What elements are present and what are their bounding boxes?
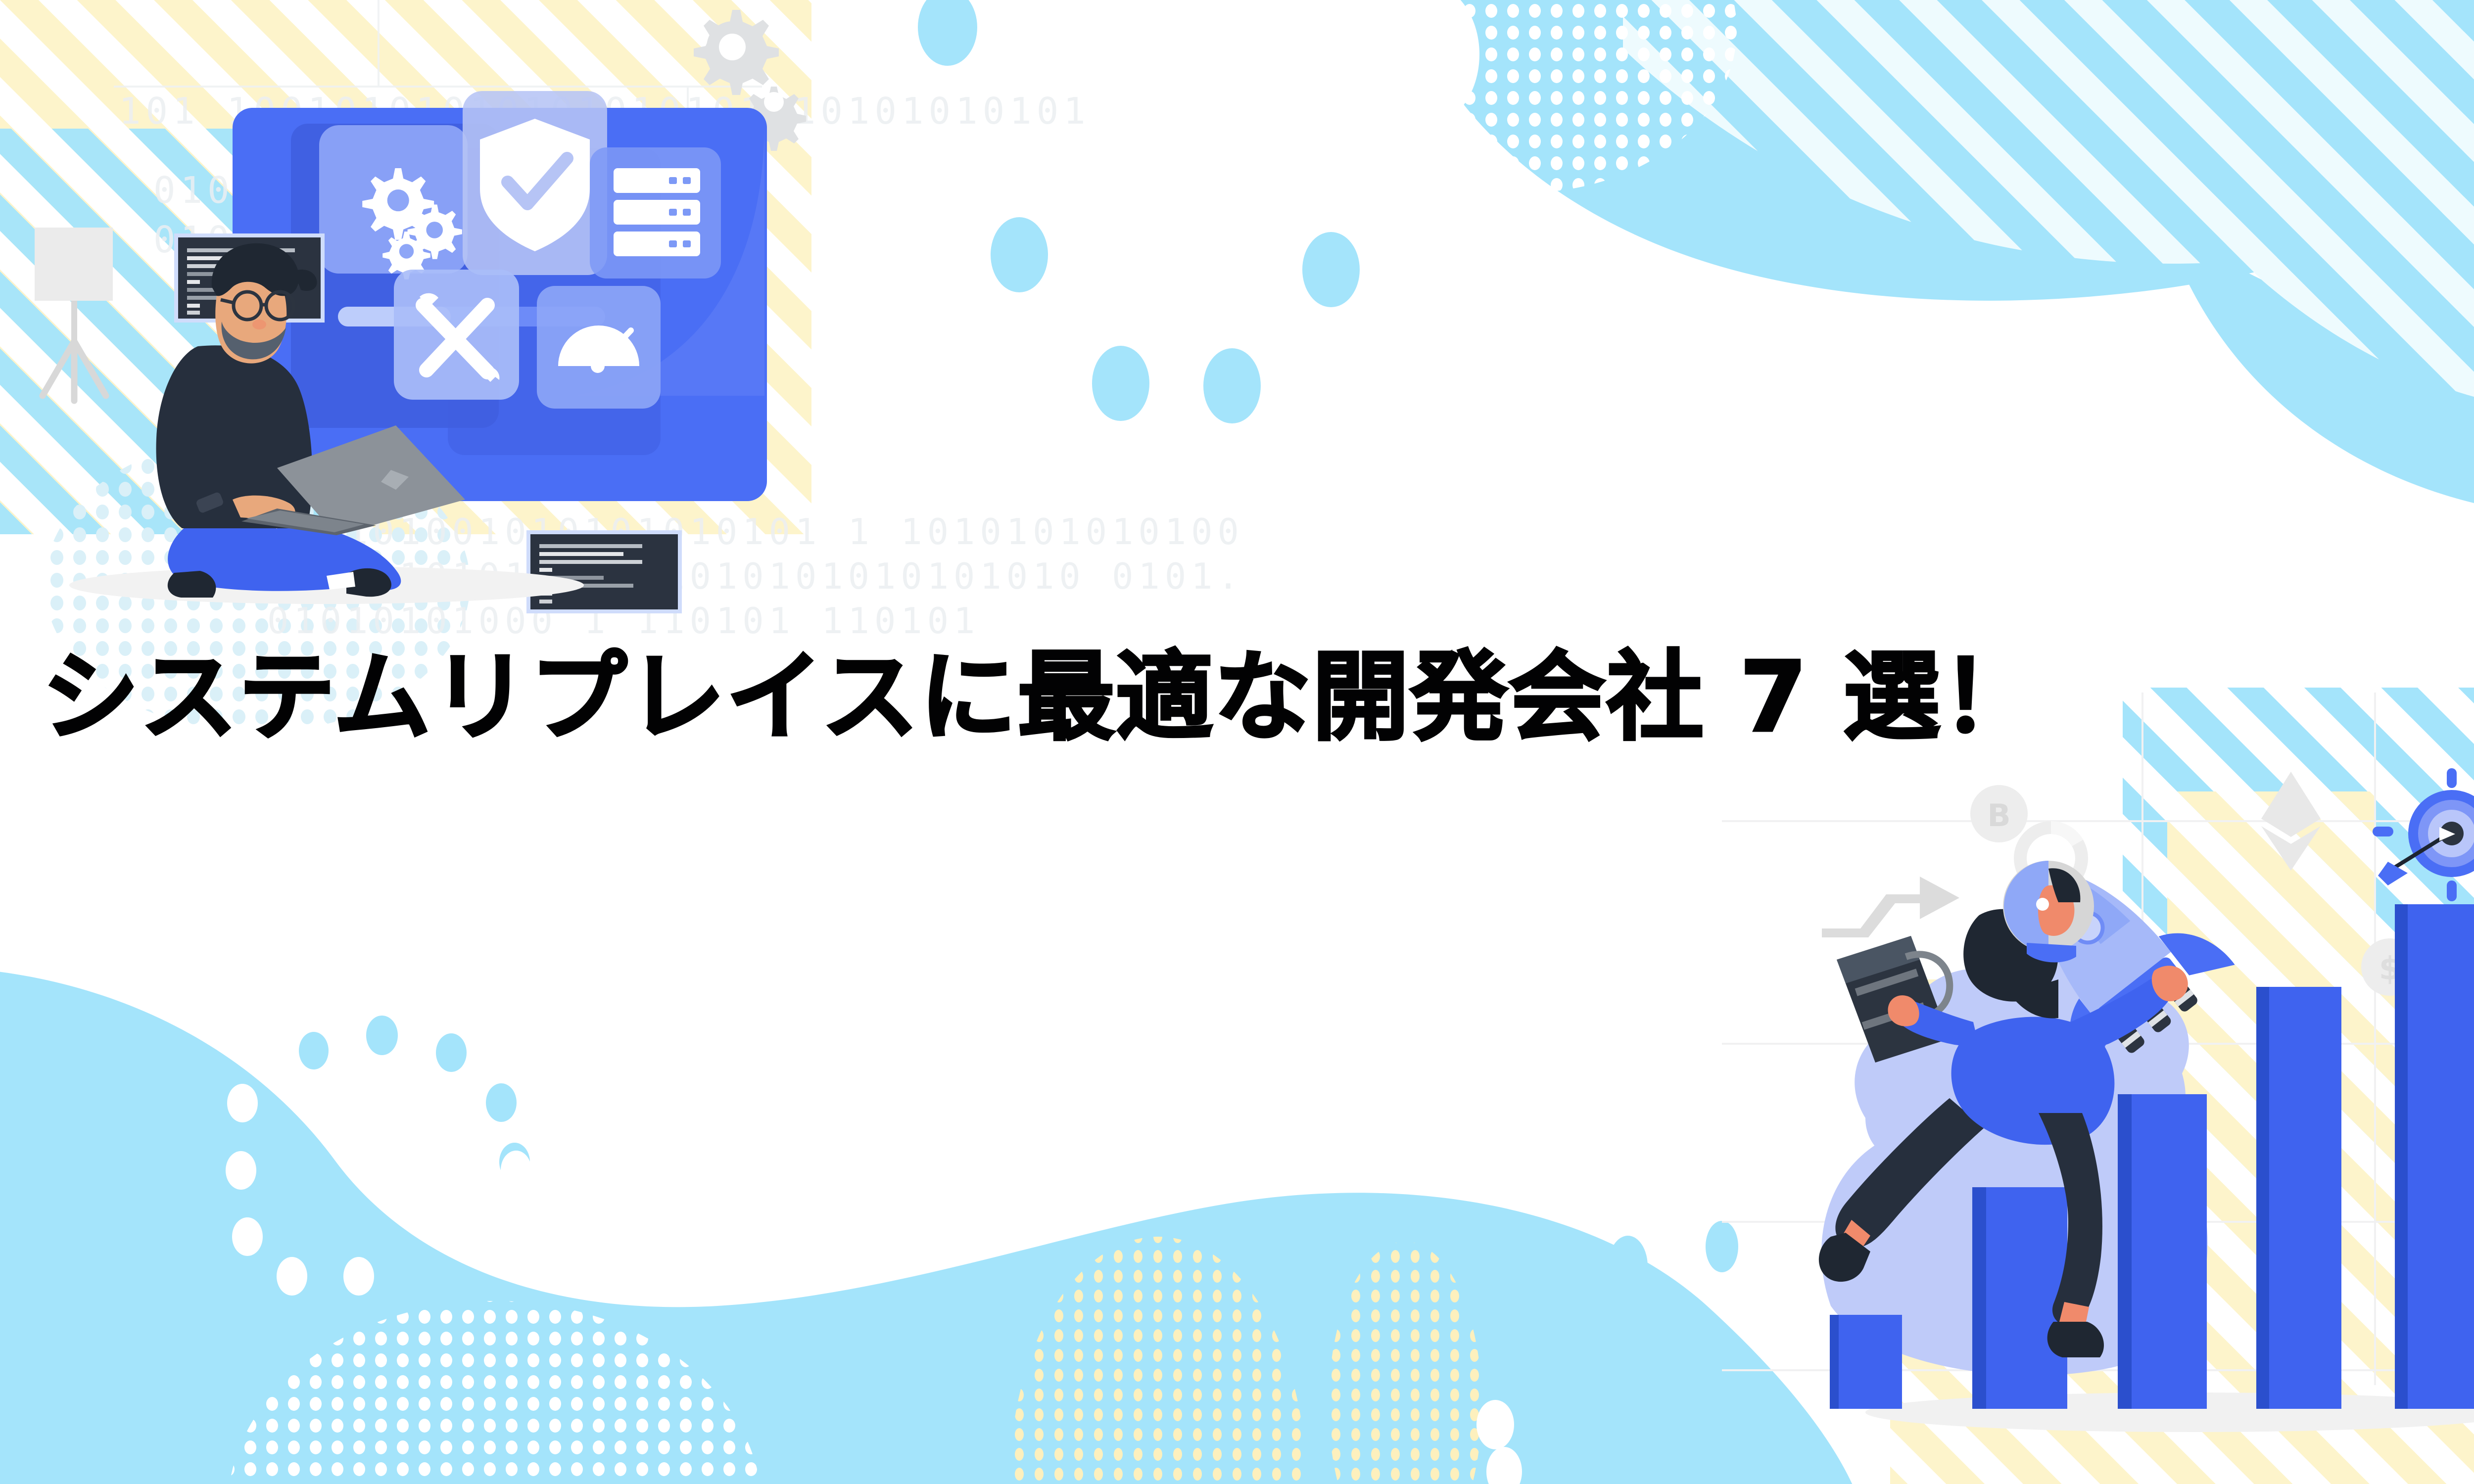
page-title: システムリプレイスに最適な開発会社 7 選！ bbox=[42, 649, 2474, 746]
dartboard-target-icon bbox=[2373, 768, 2474, 901]
hero-banner: 101 10010101010101010101010101010101 010… bbox=[0, 0, 2474, 1484]
bar-2 bbox=[1972, 1187, 2067, 1409]
bitcoin-coin-icon: B bbox=[1970, 785, 2028, 842]
svg-text:B: B bbox=[1987, 797, 2010, 834]
bar-4 bbox=[2256, 987, 2341, 1409]
bar-3 bbox=[2118, 1094, 2207, 1409]
trend-up-arrow-icon bbox=[1822, 877, 1959, 937]
bar-5 bbox=[2395, 904, 2474, 1409]
ethereum-diamond-icon bbox=[2261, 772, 2321, 871]
bar-1 bbox=[1830, 1315, 1902, 1409]
